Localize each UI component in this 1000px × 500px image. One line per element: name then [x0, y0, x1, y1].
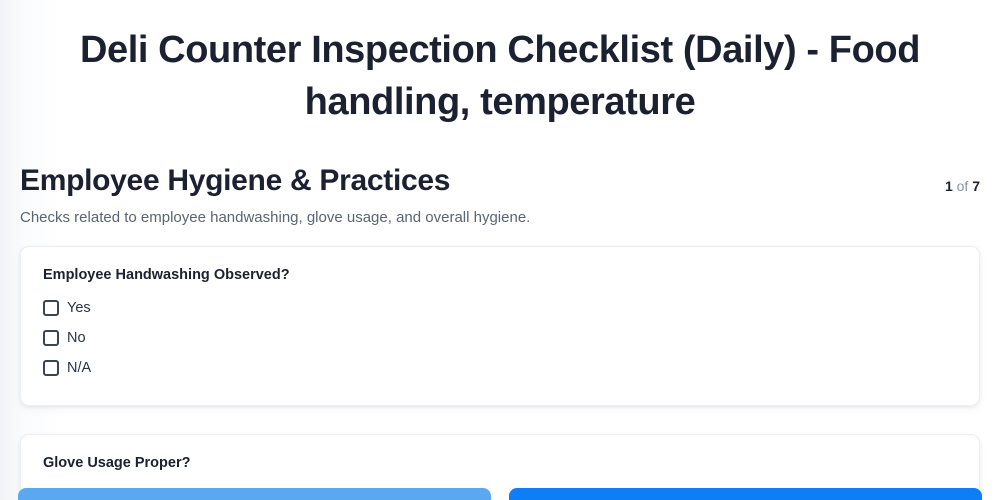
option-label: Yes — [67, 300, 91, 316]
navigation-bar: Previous Next — [0, 488, 1000, 500]
counter-current: 1 — [945, 178, 953, 194]
checklist-page: Deli Counter Inspection Checklist (Daily… — [0, 0, 1000, 500]
previous-button[interactable]: Previous — [18, 488, 491, 500]
section-progress-counter: 1 of 7 — [945, 178, 980, 198]
section-header: Employee Hygiene & Practices 1 of 7 — [0, 128, 1000, 198]
option-row[interactable]: N/A — [43, 353, 957, 383]
question-label: Employee Handwashing Observed? — [43, 267, 957, 283]
section-title: Employee Hygiene & Practices — [20, 164, 450, 198]
option-label: No — [67, 330, 86, 346]
question-label: Glove Usage Proper? — [43, 455, 957, 471]
page-title: Deli Counter Inspection Checklist (Daily… — [0, 0, 1000, 128]
option-row[interactable]: Yes — [43, 293, 957, 323]
next-button[interactable]: Next — [509, 488, 982, 500]
option-row[interactable]: No — [43, 323, 957, 353]
checkbox-icon[interactable] — [43, 330, 59, 346]
question-list: Employee Handwashing Observed? Yes No N/… — [0, 228, 1000, 500]
checkbox-icon[interactable] — [43, 360, 59, 376]
counter-separator: of — [953, 178, 972, 194]
counter-total: 7 — [972, 178, 980, 194]
question-card: Employee Handwashing Observed? Yes No N/… — [20, 246, 980, 406]
option-label: N/A — [67, 360, 91, 376]
section-description: Checks related to employee handwashing, … — [0, 198, 1000, 228]
checkbox-icon[interactable] — [43, 300, 59, 316]
